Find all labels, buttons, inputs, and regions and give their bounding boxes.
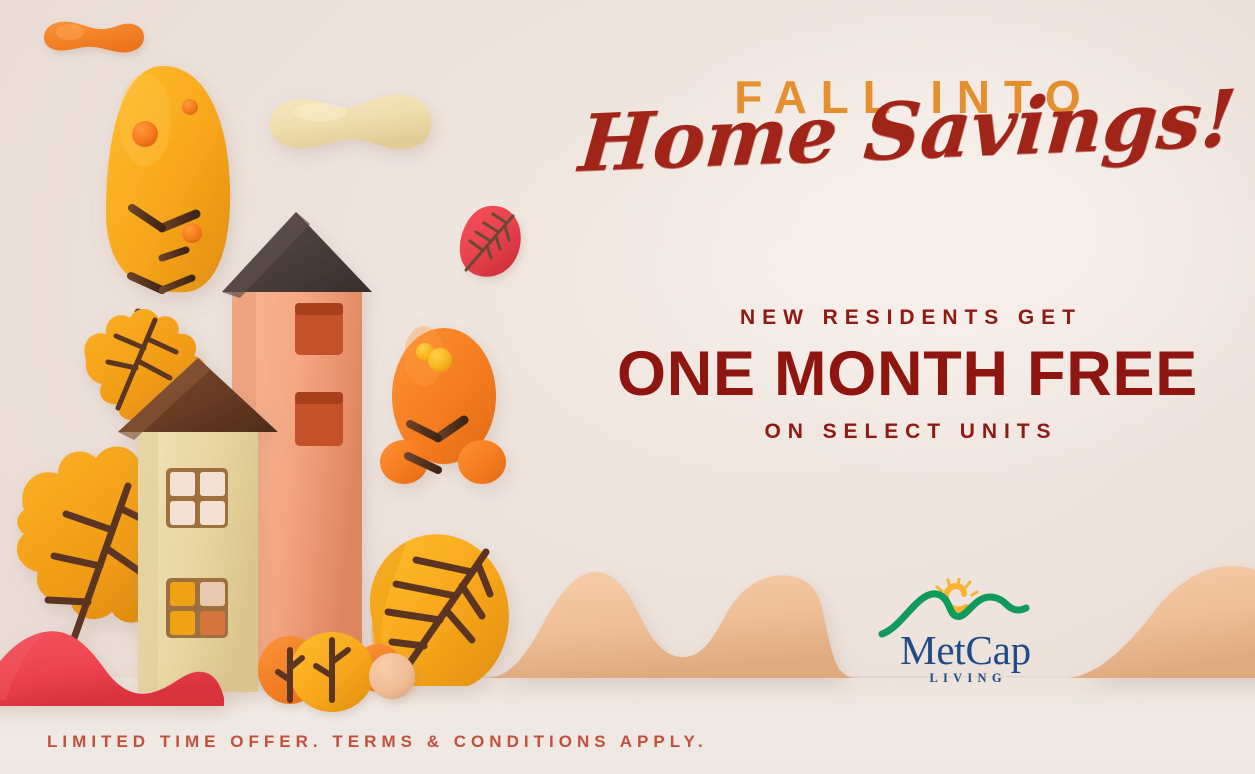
orange-tree bbox=[380, 326, 506, 484]
offer-kicker: NEW RESIDENTS GET bbox=[560, 306, 1255, 329]
amber-tree-trunk bbox=[131, 120, 196, 440]
tree-berry bbox=[182, 223, 202, 243]
cream-cloud bbox=[270, 94, 432, 149]
orange-cloud bbox=[44, 22, 144, 53]
amber-tree bbox=[106, 66, 230, 292]
metcap-logo[interactable]: MetCap LIVING bbox=[878, 578, 1053, 694]
logo-tagline: LIVING bbox=[878, 672, 1053, 685]
tree-berry bbox=[428, 348, 452, 372]
house-window-lower bbox=[166, 578, 228, 638]
big-amber-leaf bbox=[370, 534, 509, 686]
headline-group: FALL INTO Home Savings! bbox=[560, 74, 1255, 168]
cream-house bbox=[118, 358, 278, 692]
red-leaf bbox=[460, 206, 521, 277]
promo-banner: FALL INTO Home Savings! NEW RESIDENTS GE… bbox=[0, 0, 1255, 774]
house-window-upper bbox=[166, 468, 228, 528]
offer-main-text: ONE MONTH FREE bbox=[560, 341, 1255, 408]
tree-berry bbox=[182, 99, 198, 115]
headline-script: Home Savings! bbox=[557, 83, 1255, 182]
oak-leaf-large bbox=[17, 447, 198, 644]
offer-sub-text: ON SELECT UNITS bbox=[560, 420, 1255, 443]
orange-tree-trunk bbox=[408, 388, 464, 680]
disclaimer-text: LIMITED TIME OFFER. TERMS & CONDITIONS A… bbox=[42, 733, 708, 750]
logo-wordmark: MetCap bbox=[878, 630, 1053, 671]
tree-berry bbox=[132, 121, 158, 147]
offer-group: NEW RESIDENTS GET ONE MONTH FREE ON SELE… bbox=[560, 306, 1255, 443]
oak-leaf-small bbox=[84, 309, 205, 427]
peach-house bbox=[222, 212, 372, 678]
tree-berry bbox=[416, 343, 434, 361]
